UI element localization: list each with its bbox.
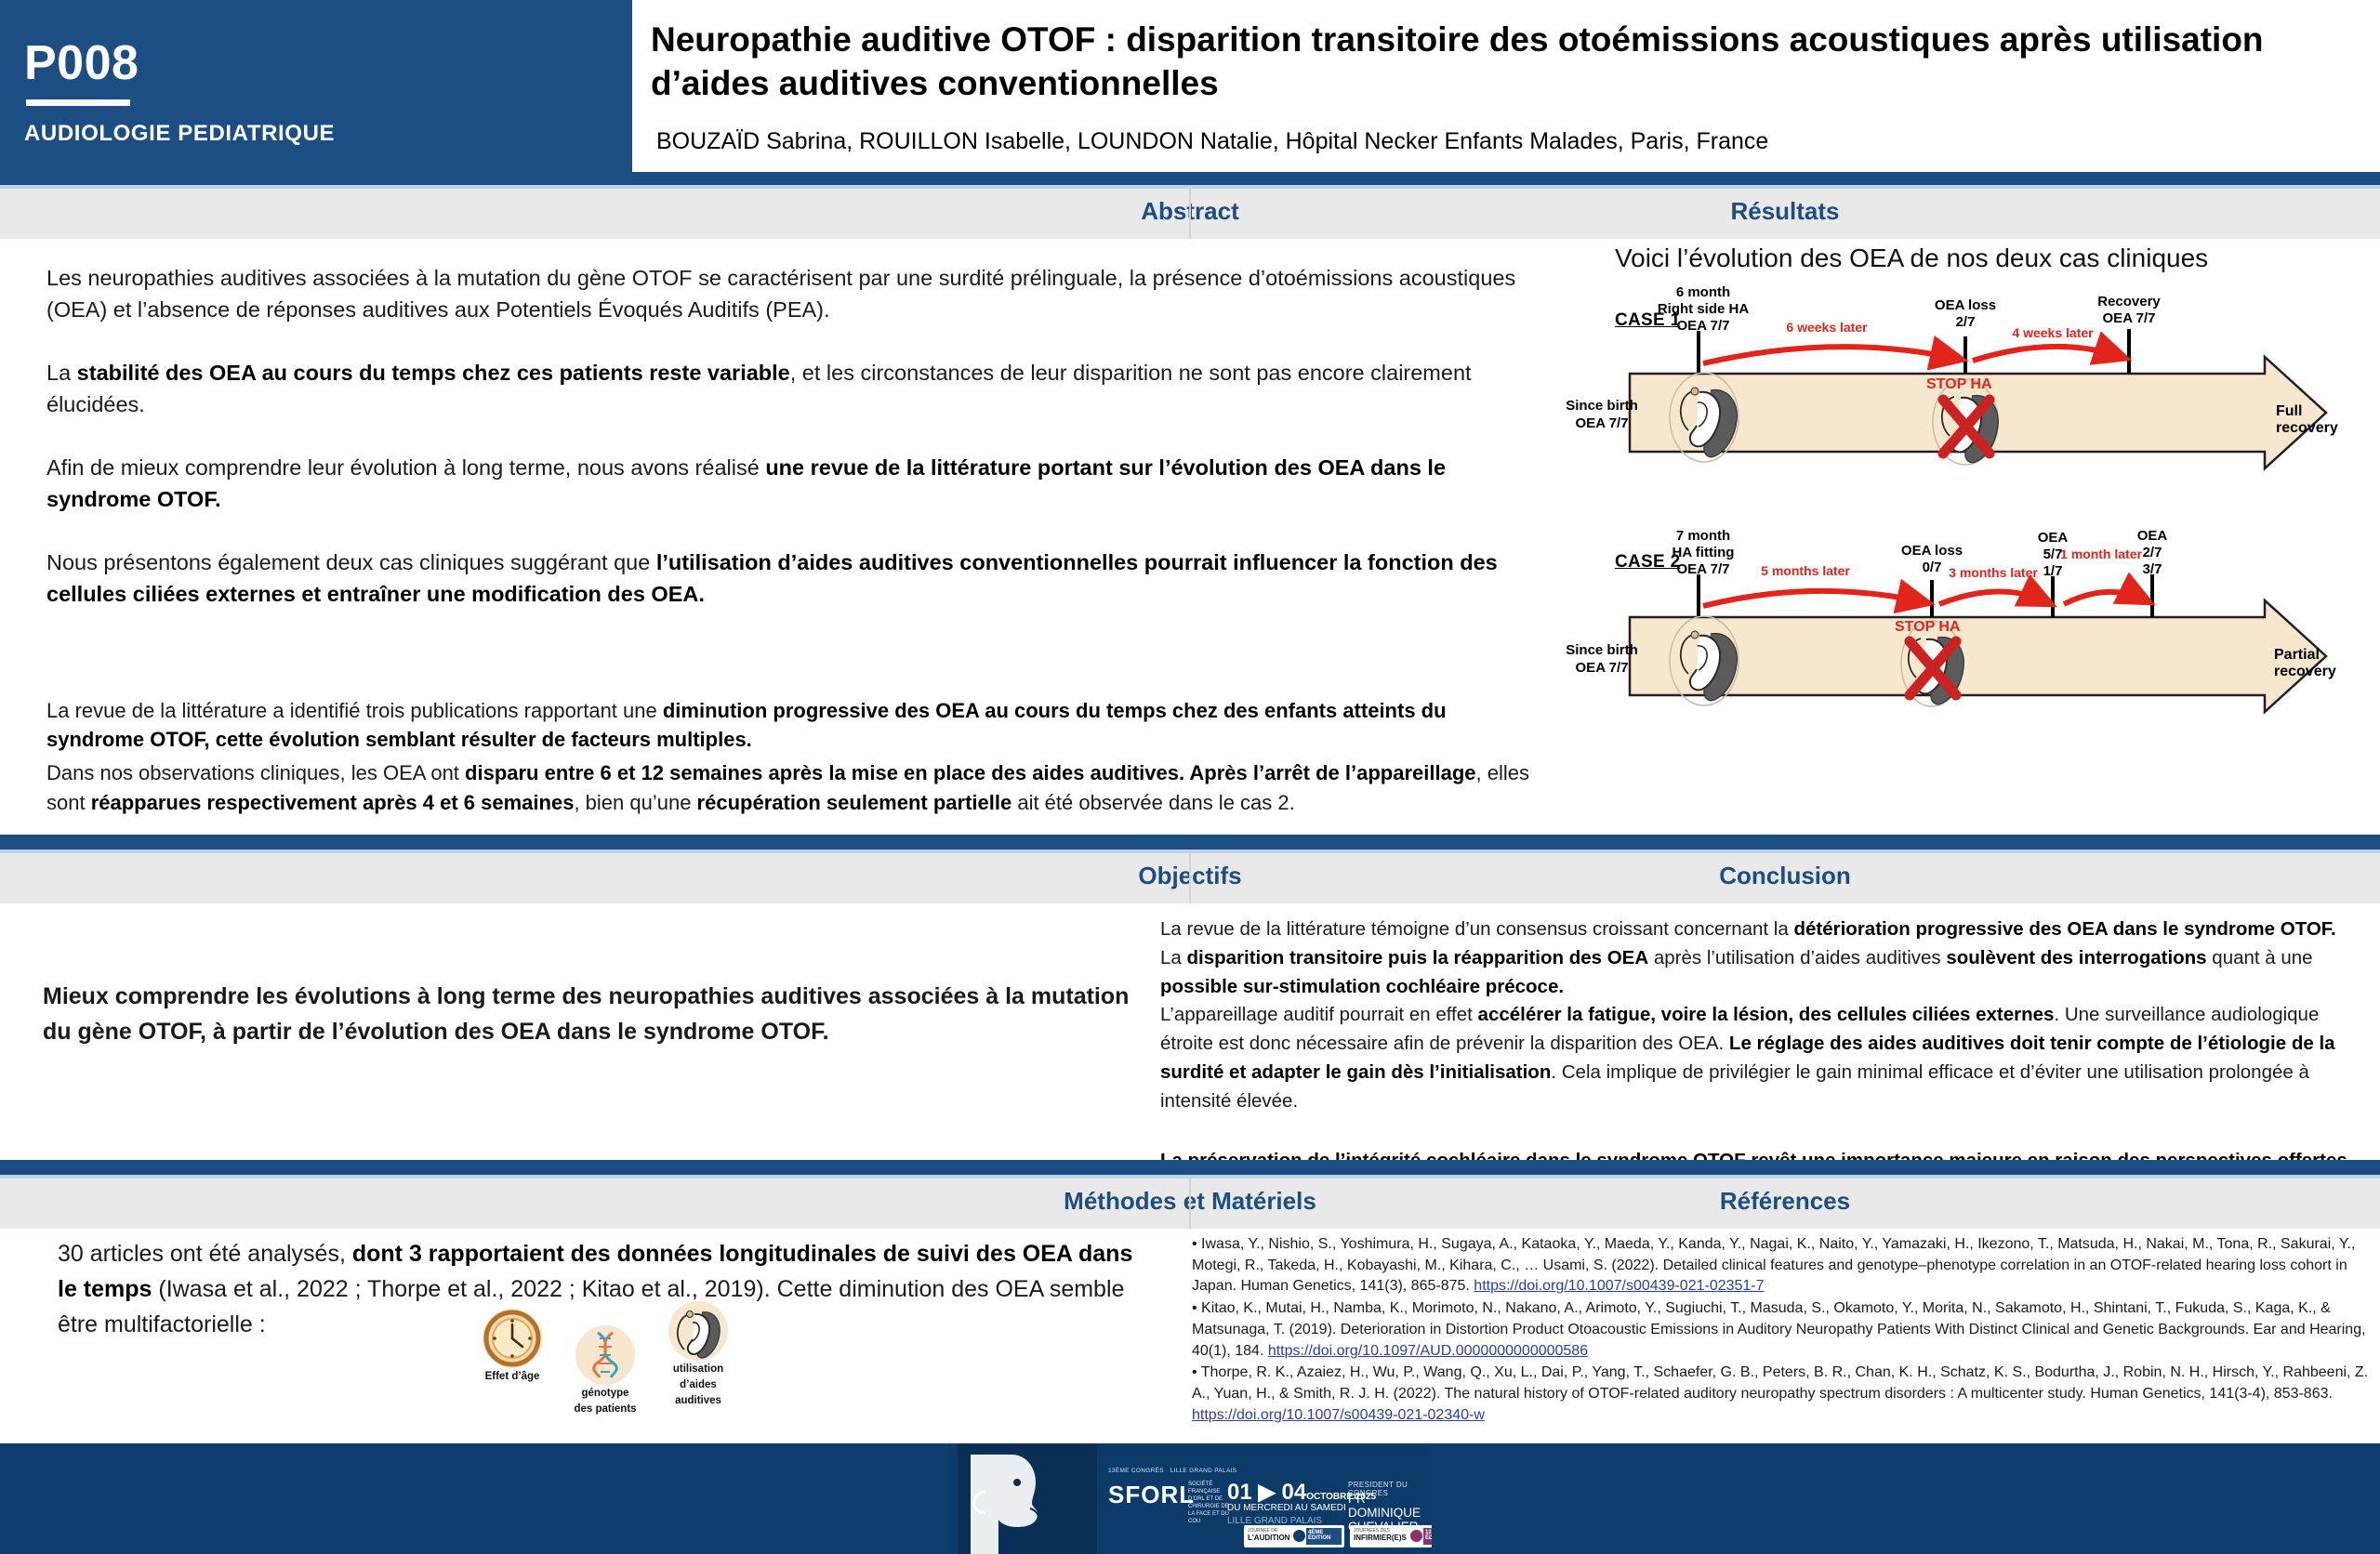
- section-band-3: Méthodes et Matériels Références: [0, 1179, 2380, 1229]
- congress-illustration: [958, 1443, 1097, 1554]
- case2-m3-line1: OEA: [1997, 530, 2109, 547]
- case2-timeline: CASE 2: [1571, 539, 2343, 771]
- abstract-p4-a: Nous présentons également deux cas clini…: [46, 550, 656, 574]
- case1-interval-1: 6 weeks later: [1762, 320, 1892, 336]
- footer-date-main: 01 ▶ 04: [1227, 1480, 1306, 1505]
- footer-congress-line: 13ÈME CONGRÈS · LILLE GRAND PALAIS: [1108, 1468, 1236, 1474]
- concl-l2-c: après l’utilisation d’aides auditives: [1648, 947, 1946, 968]
- clock-icon: [483, 1309, 542, 1368]
- footer-brand: SFORL: [1108, 1481, 1195, 1509]
- section-title-references: Références: [1190, 1187, 2380, 1216]
- reference-item-3: • Thorpe, R. K., Azaiez, H., Wu, P., Wan…: [1192, 1363, 2373, 1426]
- concl-l3-a: L’appareillage auditif pourrait en effet: [1160, 1004, 1478, 1025]
- concl-l2-d: soulèvent des interrogations: [1946, 947, 2206, 968]
- section-title-conclusion: Conclusion: [1190, 862, 2380, 890]
- abstract-paragraph-1: Les neuropathies auditives associées à l…: [46, 262, 1534, 325]
- conclusion-line-3: L’appareillage auditif pourrait en effet…: [1160, 1001, 2369, 1115]
- divider-strip-2: [0, 835, 2380, 849]
- poster-header: P008 AUDIOLOGIE PEDIATRIQUE Neuropathie …: [0, 0, 2380, 172]
- hearing-aid-icon: [668, 1301, 728, 1361]
- section-band-1: Abstract Résultats: [0, 189, 2380, 239]
- factor-genotype: génotype des patients: [562, 1325, 648, 1416]
- concl-l1-a: La revue de la littérature témoigne d’un…: [1160, 918, 1793, 940]
- chip2-line2: INFIRMIER(E)S: [1354, 1534, 1407, 1542]
- case1-since-birth-l1: Since birth: [1560, 397, 1644, 415]
- case1-m3-line1: Recovery: [2073, 294, 2185, 311]
- objectifs-body: Mieux comprendre les évolutions à long t…: [43, 980, 1149, 1049]
- band-divider-3: [1189, 1179, 1191, 1229]
- abstract-p6-bold2: réapparues respectivement après 4 et 6 s…: [91, 791, 575, 814]
- case2-arc-2: [1939, 591, 2047, 604]
- case2-stop-label: STOP HA: [1895, 619, 1961, 636]
- reference-item-2: • Kitao, K., Mutai, H., Namba, K., Morim…: [1192, 1298, 2373, 1362]
- results-body: Voici l’évolution des OEA de nos deux ca…: [1571, 244, 2380, 820]
- band-divider: [1189, 189, 1191, 239]
- conclusion-line-1: La revue de la littérature témoigne d’un…: [1160, 915, 2369, 944]
- reference-item-1: • Iwasa, Y., Nishio, S., Yoshimura, H., …: [1192, 1234, 2373, 1297]
- reference-1-link[interactable]: https://doi.org/10.1007/s00439-021-02351…: [1474, 1278, 1764, 1294]
- poster-title: Neuropathie auditive OTOF : disparition …: [651, 19, 2361, 105]
- chip2-dot-icon: [1410, 1530, 1422, 1542]
- results-caption: Voici l’évolution des OEA de nos deux ca…: [1615, 244, 2208, 273]
- section-band-2: Objectifs Conclusion: [0, 853, 2380, 903]
- footer-date-sub: DU MERCREDI AU SAMEDI: [1227, 1503, 1346, 1513]
- factor-ha-caption-3: auditives: [655, 1395, 741, 1408]
- case1-arc-2: [1973, 347, 2122, 361]
- abstract-p5-a: La revue de la littérature a identifié t…: [46, 699, 663, 722]
- case2-interval-2: 3 months later: [1928, 565, 2058, 581]
- case1-m1-line3: OEA 7/7: [1643, 318, 1764, 336]
- conclusion-line-2: La disparition transitoire puis la réapp…: [1160, 944, 2369, 1002]
- case1-stop-label: STOP HA: [1926, 376, 1992, 393]
- abstract-p2-bold: stabilité des OEA au cours du temps chez…: [77, 361, 790, 385]
- abstract-paragraph-5: La revue de la littérature a identifié t…: [46, 696, 1534, 756]
- case1-arc-1: [1703, 347, 1958, 363]
- case1-timeline: CASE 1: [1571, 299, 2343, 532]
- footer-chip-audition: JOURNEE DE L'AUDITION 4ÈME ÉDITION: [1244, 1525, 1344, 1547]
- case2-m4-line3: 3/7: [2096, 561, 2208, 579]
- header-rule-blue: [0, 172, 2380, 185]
- abstract-paragraph-4: Nous présentons également deux cas clini…: [46, 547, 1534, 610]
- case2-interval-3: 1 month later: [2055, 547, 2148, 561]
- case1-interval-2: 4 weeks later: [1988, 325, 2118, 341]
- concl-l3-b: accélérer la fatigue, voire la lésion, d…: [1478, 1004, 2055, 1025]
- chip2-edition: 12ÈME ÉDITION: [1423, 1528, 1432, 1545]
- reference-2-link[interactable]: https://doi.org/10.1097/AUD.000000000000…: [1268, 1343, 1588, 1359]
- case2-since-birth-l1: Since birth: [1560, 641, 1644, 660]
- abstract-p2-a: La: [46, 361, 77, 385]
- chip1-edition: 4ÈME ÉDITION: [1306, 1528, 1342, 1545]
- footer-banner: 13ÈME CONGRÈS · LILLE GRAND PALAIS SFORL…: [948, 1443, 1432, 1554]
- case1-since-birth-l2: OEA 7/7: [1560, 415, 1644, 433]
- case2-arc-1: [1703, 591, 1924, 606]
- dna-icon: [575, 1325, 635, 1385]
- methodes-t1: 30 articles ont été analysés,: [58, 1241, 352, 1267]
- case1-m1-line1: 6 month: [1643, 284, 1764, 302]
- concl-l2-b: disparition transitoire puis la réappari…: [1187, 947, 1649, 968]
- abstract-p6-bold1: disparu entre 6 et 12 semaines après la …: [465, 761, 1475, 784]
- section-title-resultats: Résultats: [1190, 197, 2380, 226]
- factor-ha-caption-1: utilisation: [655, 1363, 741, 1376]
- footer-society: SOCIÉTÉ FRANÇAISE D’ORL ET DE CHIRURGIE …: [1188, 1481, 1231, 1526]
- poster-category: AUDIOLOGIE PEDIATRIQUE: [24, 121, 335, 147]
- reference-3-text: • Thorpe, R. K., Azaiez, H., Wu, P., Wan…: [1192, 1364, 2368, 1402]
- factor-age: Effet d’âge: [469, 1309, 555, 1384]
- concl-l1-bold: détérioration progressive des OEA dans l…: [1793, 918, 2335, 940]
- abstract-p6-a: Dans nos observations cliniques, les OEA…: [46, 761, 465, 784]
- poster-number-badge: P008 AUDIOLOGIE PEDIATRIQUE: [0, 0, 632, 172]
- concl-l2-e: quant à une: [2207, 947, 2313, 968]
- abstract-p1-text: Les neuropathies auditives associées à l…: [46, 266, 1515, 322]
- reference-1-text: • Iwasa, Y., Nishio, S., Yoshimura, H., …: [1192, 1236, 2355, 1294]
- chip2-edition-text: 12ÈME ÉDITION: [1425, 1530, 1432, 1541]
- abstract-paragraph-2: La stabilité des OEA au cours du temps c…: [46, 357, 1534, 420]
- reference-3-link[interactable]: https://doi.org/10.1007/s00439-021-02340…: [1192, 1407, 1485, 1423]
- poster-number: P008: [24, 35, 139, 91]
- footer-chip-infirmieres: JOURNEES DES INFIRMIER(E)S 12ÈME ÉDITION: [1350, 1525, 1432, 1547]
- chip1-dot-icon: [1293, 1530, 1305, 1542]
- badge-rule: [26, 99, 130, 106]
- abstract-p3-a: Afin de mieux comprendre leur évolution …: [46, 455, 765, 480]
- case2-m4-line1: OEA: [2096, 528, 2208, 546]
- case1-m2-line1: OEA loss: [1910, 297, 2021, 315]
- case2-arc-3: [2064, 592, 2146, 604]
- abstract-p6-bold3: récupération seulement partielle: [697, 791, 1012, 814]
- abstract-body: Les neuropathies auditives associées à l…: [46, 262, 1534, 822]
- poster-authors: BOUZAÏD Sabrina, ROUILLON Isabelle, LOUN…: [656, 128, 2367, 155]
- poster-root: P008 AUDIOLOGIE PEDIATRIQUE Neuropathie …: [0, 0, 2380, 1554]
- abstract-paragraph-6: Dans nos observations cliniques, les OEA…: [46, 758, 1534, 818]
- case1-outcome: Full recovery: [2276, 403, 2343, 437]
- references-body: • Iwasa, Y., Nishio, S., Yoshimura, H., …: [1192, 1234, 2373, 1427]
- concl-l2-a: La: [1160, 947, 1187, 968]
- abstract-paragraph-3: Afin de mieux comprendre leur évolution …: [46, 452, 1534, 515]
- factor-genotype-caption-2: des patients: [562, 1403, 648, 1416]
- chip1-edition-text: 4ÈME ÉDITION: [1308, 1530, 1340, 1541]
- factor-ha-caption-2: d’aides: [655, 1379, 741, 1392]
- factor-hearing-aid: utilisation d’aides auditives: [655, 1301, 741, 1407]
- abstract-p6-g: ait été observée dans le cas 2.: [1011, 791, 1295, 814]
- band-divider-2: [1189, 853, 1191, 903]
- case2-since-birth-l2: OEA 7/7: [1560, 659, 1644, 678]
- case2-m1-line1: 7 month: [1643, 528, 1764, 546]
- divider-strip-3: [0, 1160, 2380, 1175]
- case2-m2-line1: OEA loss: [1876, 543, 1988, 560]
- case1-m1-line2: Right side HA: [1633, 301, 1773, 319]
- factor-genotype-caption-1: génotype: [562, 1388, 648, 1401]
- case2-interval-1: 5 months later: [1740, 563, 1871, 579]
- concl-l2-f: possible sur-stimulation cochléaire préc…: [1160, 976, 1564, 997]
- factor-age-caption: Effet d’âge: [469, 1371, 555, 1384]
- factors-group: Effet d’âge génotype des patients: [469, 1309, 860, 1439]
- abstract-p6-e: , bien qu’une: [574, 791, 696, 814]
- chip1-line2: L'AUDITION: [1248, 1534, 1289, 1542]
- case2-outcome: Partial recovery: [2274, 647, 2343, 680]
- case2-m1-line2: HA fitting: [1638, 545, 1768, 562]
